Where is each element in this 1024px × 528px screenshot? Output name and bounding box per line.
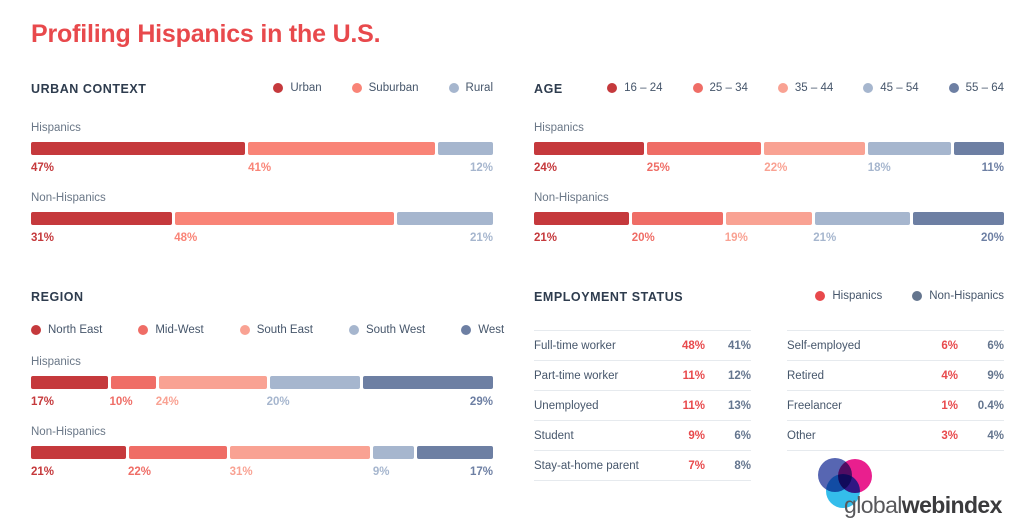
logo-wordmark: globalwebindex — [844, 492, 1002, 519]
bar-group-label: Hispanics — [534, 122, 1004, 134]
table-row-label: Full-time worker — [534, 340, 659, 352]
bar-segment[interactable] — [726, 212, 812, 225]
legend-item: Rural — [449, 82, 493, 94]
bar-value-label: 10% — [110, 396, 156, 408]
bar-group-label: Hispanics — [31, 356, 493, 368]
bar-value-label: 48% — [174, 232, 396, 244]
bar-segment[interactable] — [534, 212, 629, 225]
table-row: Part-time worker11%12% — [534, 360, 751, 390]
bar-segment[interactable] — [363, 376, 494, 389]
bar-value-label: 31% — [230, 466, 373, 478]
bar-group: Hispanics24%25%22%18%11% — [534, 122, 1004, 174]
legend-dot-icon — [607, 83, 617, 93]
table-row: Freelancer1%0.4% — [787, 390, 1004, 420]
table-row: Other3%4% — [787, 420, 1004, 451]
bar-group-label: Non-Hispanics — [534, 192, 1004, 204]
table-row-label: Unemployed — [534, 400, 659, 412]
legend-dot-icon — [863, 83, 873, 93]
table-row: Stay-at-home parent7%8% — [534, 450, 751, 481]
table-value-hispanics: 9% — [659, 430, 705, 442]
table-row-label: Stay-at-home parent — [534, 460, 659, 472]
legend-item: 16 – 24 — [607, 82, 662, 94]
section-header-row: REGION — [31, 290, 493, 310]
legend-dot-icon — [31, 325, 41, 335]
bar-value-label: 31% — [31, 232, 174, 244]
bar-value-labels: 21%20%19%21%20% — [534, 232, 1004, 244]
bar-segment[interactable] — [632, 212, 723, 225]
section-region: REGION North EastMid-WestSouth EastSouth… — [31, 290, 493, 478]
table-value-hispanics: 11% — [659, 400, 705, 412]
legend-dot-icon — [273, 83, 283, 93]
legend-label: North East — [48, 324, 102, 336]
bar-value-labels: 17%10%24%20%29% — [31, 396, 493, 408]
bar-segment[interactable] — [417, 446, 494, 459]
legend-dot-icon — [449, 83, 459, 93]
section-header-row: AGE 16 – 2425 – 3435 – 4445 – 5455 – 64 — [534, 82, 1004, 102]
table-value-hispanics: 11% — [659, 370, 705, 382]
logo-word-global: global — [844, 492, 902, 518]
bar-segment[interactable] — [31, 446, 126, 459]
legend-item: 45 – 54 — [863, 82, 918, 94]
logo-word-index: index — [945, 492, 1002, 518]
bar-segment[interactable] — [815, 212, 910, 225]
section-title: AGE — [534, 82, 563, 96]
bar-segment[interactable] — [248, 142, 435, 155]
legend-label: Non-Hispanics — [929, 290, 1004, 302]
legend-label: Suburban — [369, 82, 419, 94]
table-row: Full-time worker48%41% — [534, 330, 751, 360]
infographic-page: Profiling Hispanics in the U.S. URBAN CO… — [0, 0, 1024, 528]
bar-segment[interactable] — [373, 446, 414, 459]
legend-dot-icon — [778, 83, 788, 93]
section-title: URBAN CONTEXT — [31, 82, 146, 96]
legend-item: 25 – 34 — [693, 82, 748, 94]
table-value-hispanics: 6% — [912, 340, 958, 352]
table-value-hispanics: 1% — [912, 400, 958, 412]
bar-segment[interactable] — [31, 142, 245, 155]
section-title: REGION — [31, 290, 84, 304]
table-row: Self-employed6%6% — [787, 330, 1004, 360]
legend-item: Non-Hispanics — [912, 290, 1004, 302]
legend-label: 16 – 24 — [624, 82, 662, 94]
bar-segment[interactable] — [270, 376, 360, 389]
bar-segment[interactable] — [868, 142, 950, 155]
section-urban-context: URBAN CONTEXT UrbanSuburbanRural Hispani… — [31, 82, 493, 244]
bar-value-label: 17% — [414, 466, 493, 478]
bar-segment[interactable] — [159, 376, 267, 389]
legend-item: Hispanics — [815, 290, 882, 302]
bar-value-labels: 24%25%22%18%11% — [534, 162, 1004, 174]
bar-value-label: 22% — [764, 162, 867, 174]
legend-dot-icon — [240, 325, 250, 335]
legend-label: West — [478, 324, 504, 336]
page-title: Profiling Hispanics in the U.S. — [31, 20, 380, 49]
bar-value-label: 21% — [31, 466, 128, 478]
bar-value-label: 11% — [952, 162, 1004, 174]
table-row-label: Student — [534, 430, 659, 442]
legend-label: 35 – 44 — [795, 82, 833, 94]
legend-label: 55 – 64 — [966, 82, 1004, 94]
legend-label: 45 – 54 — [880, 82, 918, 94]
stacked-bar — [31, 142, 493, 155]
bar-groups-region: Hispanics17%10%24%20%29%Non-Hispanics21%… — [31, 356, 493, 478]
legend-urban-context: UrbanSuburbanRural — [273, 82, 493, 94]
bar-group: Non-Hispanics21%22%31%9%17% — [31, 426, 493, 478]
section-header-row: URBAN CONTEXT UrbanSuburbanRural — [31, 82, 493, 102]
bar-group-label: Non-Hispanics — [31, 426, 493, 438]
bar-segment[interactable] — [31, 212, 172, 225]
legend-employment-status: HispanicsNon-Hispanics — [815, 290, 1004, 302]
section-age: AGE 16 – 2425 – 3435 – 4445 – 5455 – 64 … — [534, 82, 1004, 244]
table-value-non-hispanics: 4% — [958, 430, 1004, 442]
table-value-non-hispanics: 13% — [705, 400, 751, 412]
bar-groups-urban-context: Hispanics47%41%12%Non-Hispanics31%48%21% — [31, 122, 493, 244]
employment-table-left: Full-time worker48%41%Part-time worker11… — [534, 330, 751, 481]
bar-value-labels: 47%41%12% — [31, 162, 493, 174]
table-row-label: Retired — [787, 370, 912, 382]
bar-segment[interactable] — [111, 376, 156, 389]
section-employment-status: EMPLOYMENT STATUS HispanicsNon-Hispanics… — [534, 290, 1004, 481]
legend-dot-icon — [138, 325, 148, 335]
bar-value-label: 12% — [438, 162, 493, 174]
table-value-non-hispanics: 6% — [705, 430, 751, 442]
bar-value-label: 17% — [31, 396, 110, 408]
table-row: Student9%6% — [534, 420, 751, 450]
bar-value-label: 22% — [128, 466, 230, 478]
table-value-hispanics: 7% — [659, 460, 705, 472]
table-value-hispanics: 3% — [912, 430, 958, 442]
table-value-hispanics: 48% — [659, 340, 705, 352]
bar-segment[interactable] — [913, 212, 1004, 225]
legend-label: Urban — [290, 82, 321, 94]
stacked-bar — [534, 212, 1004, 225]
bar-group: Non-Hispanics21%20%19%21%20% — [534, 192, 1004, 244]
legend-age: 16 – 2425 – 3435 – 4445 – 5455 – 64 — [607, 82, 1004, 94]
bar-group-label: Non-Hispanics — [31, 192, 493, 204]
bar-groups-age: Hispanics24%25%22%18%11%Non-Hispanics21%… — [534, 122, 1004, 244]
table-value-non-hispanics: 12% — [705, 370, 751, 382]
bar-value-label: 21% — [396, 232, 493, 244]
legend-region: North EastMid-WestSouth EastSouth WestWe… — [31, 324, 493, 336]
legend-label: Rural — [466, 82, 493, 94]
legend-item: North East — [31, 324, 102, 336]
legend-label: Hispanics — [832, 290, 882, 302]
stacked-bar — [31, 212, 493, 225]
legend-item: West — [461, 324, 504, 336]
legend-item: Mid-West — [138, 324, 203, 336]
bar-value-label: 9% — [373, 466, 415, 478]
bar-value-label: 21% — [534, 232, 632, 244]
legend-dot-icon — [461, 325, 471, 335]
stacked-bar — [31, 446, 493, 459]
legend-dot-icon — [349, 325, 359, 335]
bar-segment[interactable] — [175, 212, 394, 225]
bar-segment[interactable] — [397, 212, 493, 225]
legend-item: Urban — [273, 82, 321, 94]
section-title: EMPLOYMENT STATUS — [534, 290, 683, 304]
bar-value-labels: 21%22%31%9%17% — [31, 466, 493, 478]
bar-segment[interactable] — [31, 376, 108, 389]
table-value-non-hispanics: 6% — [958, 340, 1004, 352]
bar-value-label: 29% — [359, 396, 493, 408]
legend-label: South East — [257, 324, 313, 336]
bar-segment[interactable] — [534, 142, 644, 155]
bar-value-label: 18% — [868, 162, 953, 174]
bar-segment[interactable] — [647, 142, 762, 155]
bar-segment[interactable] — [129, 446, 228, 459]
bar-group-label: Hispanics — [31, 122, 493, 134]
table-row-label: Other — [787, 430, 912, 442]
table-row-label: Part-time worker — [534, 370, 659, 382]
bar-segment[interactable] — [954, 142, 1004, 155]
stacked-bar — [534, 142, 1004, 155]
legend-item: 55 – 64 — [949, 82, 1004, 94]
bar-value-labels: 31%48%21% — [31, 232, 493, 244]
bar-segment[interactable] — [764, 142, 865, 155]
legend-item: South East — [240, 324, 313, 336]
legend-item: South West — [349, 324, 425, 336]
legend-dot-icon — [949, 83, 959, 93]
bar-value-label: 20% — [267, 396, 359, 408]
bar-group: Hispanics47%41%12% — [31, 122, 493, 174]
legend-item: 35 – 44 — [778, 82, 833, 94]
bar-value-label: 20% — [632, 232, 725, 244]
legend-label: South West — [366, 324, 425, 336]
bar-segment[interactable] — [438, 142, 493, 155]
bar-value-label: 20% — [911, 232, 1004, 244]
globalwebindex-logo: globalwebindex — [812, 458, 1012, 520]
bar-value-label: 21% — [813, 232, 911, 244]
table-value-non-hispanics: 8% — [705, 460, 751, 472]
legend-dot-icon — [912, 291, 922, 301]
stacked-bar — [31, 376, 493, 389]
logo-word-web: web — [902, 492, 945, 518]
bar-value-label: 24% — [534, 162, 647, 174]
legend-dot-icon — [693, 83, 703, 93]
legend-dot-icon — [815, 291, 825, 301]
table-value-non-hispanics: 41% — [705, 340, 751, 352]
legend-item: Suburban — [352, 82, 419, 94]
bar-group: Non-Hispanics31%48%21% — [31, 192, 493, 244]
legend-label: 25 – 34 — [710, 82, 748, 94]
section-header-row: EMPLOYMENT STATUS HispanicsNon-Hispanics — [534, 290, 1004, 310]
bar-value-label: 41% — [248, 162, 437, 174]
bar-value-label: 25% — [647, 162, 765, 174]
table-value-non-hispanics: 0.4% — [958, 400, 1004, 412]
table-row: Retired4%9% — [787, 360, 1004, 390]
bar-group: Hispanics17%10%24%20%29% — [31, 356, 493, 408]
legend-dot-icon — [352, 83, 362, 93]
bar-value-label: 24% — [156, 396, 267, 408]
bar-value-label: 47% — [31, 162, 248, 174]
bar-value-label: 19% — [725, 232, 813, 244]
table-row-label: Self-employed — [787, 340, 912, 352]
table-row: Unemployed11%13% — [534, 390, 751, 420]
table-value-hispanics: 4% — [912, 370, 958, 382]
legend-label: Mid-West — [155, 324, 203, 336]
bar-segment[interactable] — [230, 446, 370, 459]
table-row-label: Freelancer — [787, 400, 912, 412]
table-value-non-hispanics: 9% — [958, 370, 1004, 382]
